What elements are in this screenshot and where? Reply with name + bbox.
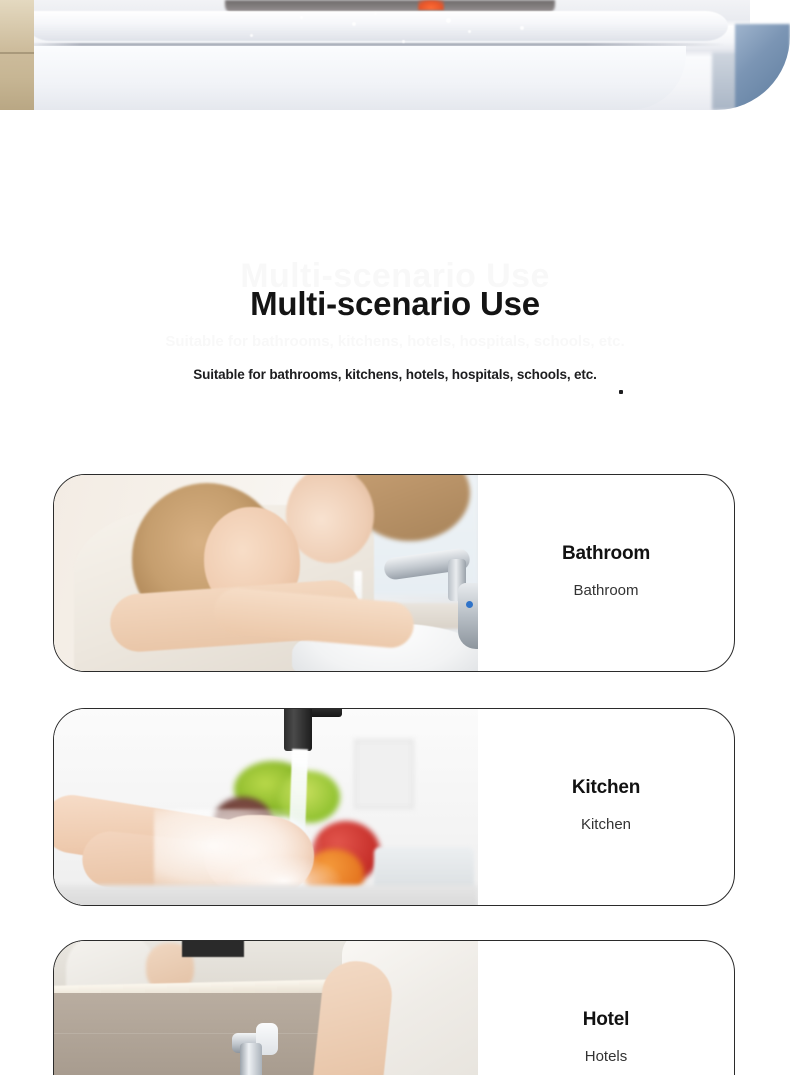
scenario-subtitle: Kitchen bbox=[581, 816, 631, 833]
photo-kitchen-composition bbox=[54, 709, 478, 905]
hero-image bbox=[0, 0, 790, 110]
photo-faucet-indicator-shape bbox=[466, 601, 473, 608]
product-detail-page: Multi-scenario Use Suitable for bathroom… bbox=[0, 0, 790, 1075]
scenario-subtitle: Bathroom bbox=[573, 582, 638, 599]
photo-counter-shape bbox=[54, 885, 478, 905]
photo-wall-panel-shape bbox=[354, 739, 414, 809]
photo-faucet-handle-shape bbox=[458, 583, 478, 649]
scenario-text-hotel: Hotel Hotels bbox=[478, 941, 734, 1075]
photo-faucet-shape bbox=[284, 709, 312, 751]
subtitle-trailing-dot bbox=[619, 390, 623, 394]
scenario-subtitle: Hotels bbox=[585, 1048, 628, 1065]
scenario-text-bathroom: Bathroom Bathroom bbox=[478, 475, 734, 671]
page-title: Multi-scenario Use bbox=[0, 287, 790, 320]
scenario-text-kitchen: Kitchen Kitchen bbox=[478, 709, 734, 905]
scenario-image-kitchen bbox=[54, 709, 478, 905]
scenario-image-hotel bbox=[54, 941, 478, 1075]
scenario-image-bathroom bbox=[54, 475, 478, 671]
photo-mirror-frame-shape bbox=[182, 941, 244, 957]
hero-photo-sink bbox=[0, 0, 790, 110]
photo-hotel-composition bbox=[54, 941, 478, 1075]
section-header: Multi-scenario Use Suitable for bathroom… bbox=[0, 255, 790, 382]
photo-mirror-reflection-shape bbox=[66, 941, 156, 989]
scenario-card-bathroom[interactable]: Bathroom Bathroom bbox=[53, 474, 735, 672]
photo-bathroom-composition bbox=[54, 475, 478, 671]
scenario-card-kitchen[interactable]: Kitchen Kitchen bbox=[53, 708, 735, 906]
scenario-title: Hotel bbox=[583, 1009, 630, 1031]
water-droplets bbox=[0, 0, 790, 110]
photo-faucet-body-shape bbox=[240, 1043, 262, 1075]
ghost-subtitle-watermark: Suitable for bathrooms, kitchens, hotels… bbox=[0, 333, 790, 350]
scenario-title: Kitchen bbox=[572, 777, 640, 799]
scenario-card-hotel[interactable]: Hotel Hotels bbox=[53, 940, 735, 1075]
scenario-title: Bathroom bbox=[562, 543, 650, 565]
page-subtitle: Suitable for bathrooms, kitchens, hotels… bbox=[0, 367, 790, 382]
